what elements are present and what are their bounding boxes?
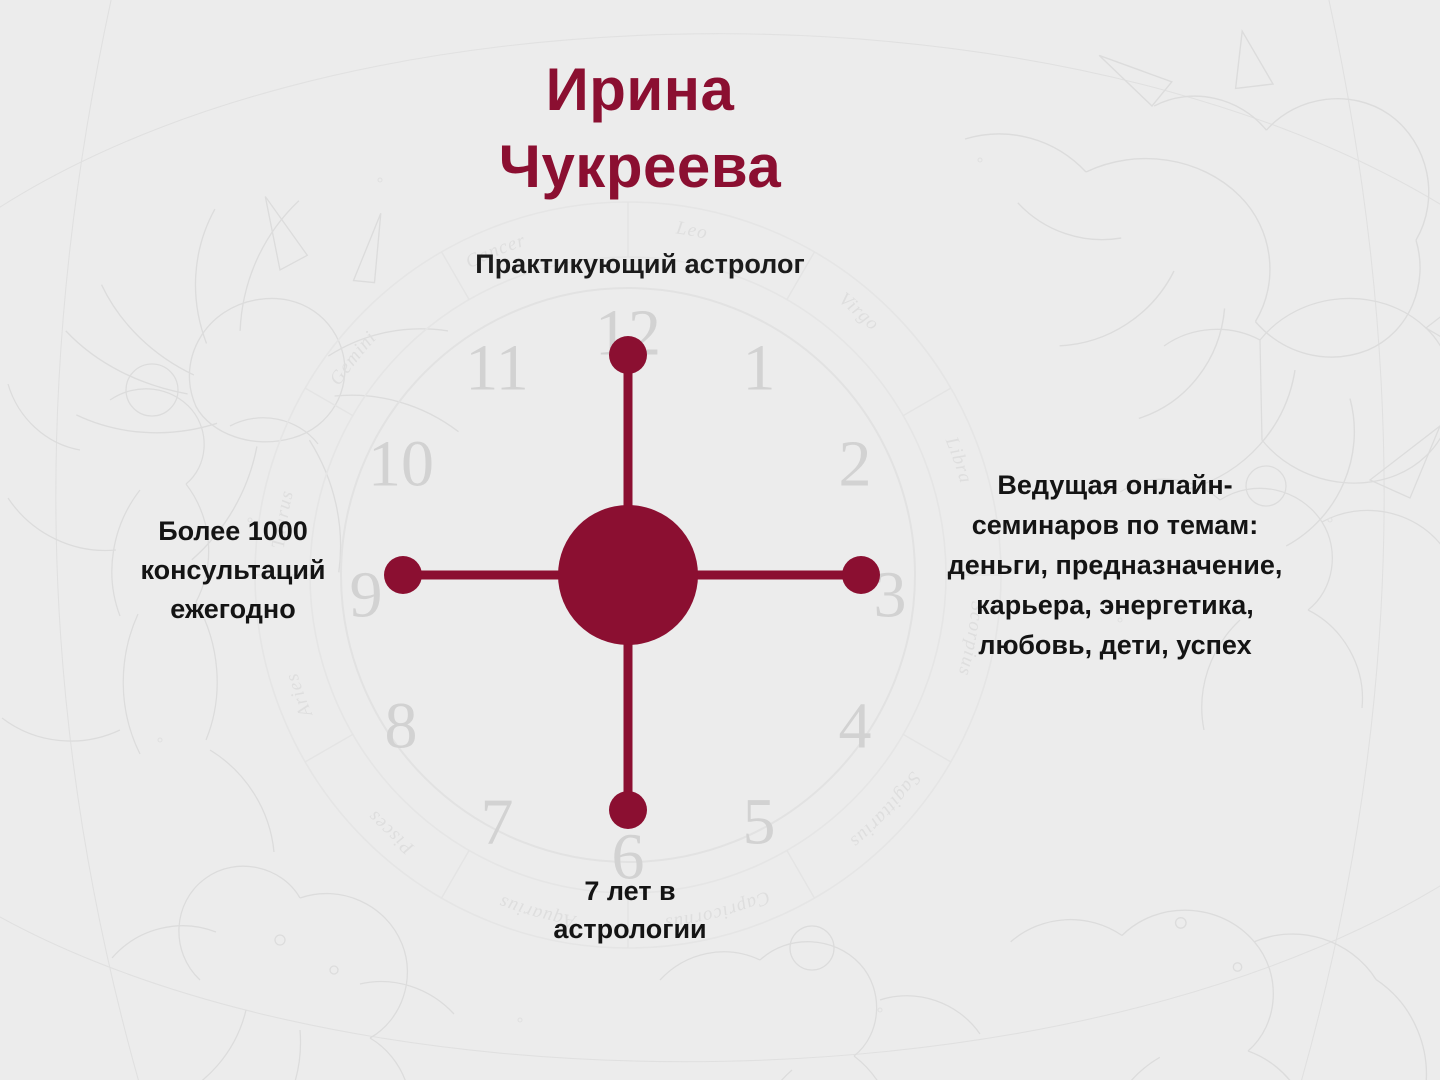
stat-bottom-line-2: астрологии [500,910,760,948]
stat-bottom-experience: 7 лет в астрологии [500,872,760,949]
stat-left-line-1: Более 1000 [88,512,378,551]
page-title: Ирина Чукреева [380,52,900,206]
stat-right-line-3: деньги, предназначение, [905,546,1325,586]
stat-right-line-1: Ведущая онлайн- [905,466,1325,506]
stat-left-consultations: Более 1000 консультаций ежегодно [88,512,378,629]
stat-right-line-2: семинаров по темам: [905,506,1325,546]
title-last-name: Чукреева [380,129,900,206]
title-first-name: Ирина [380,52,900,129]
stat-right-line-5: любовь, дети, успех [905,626,1325,666]
stat-left-line-2: консультаций [88,551,378,590]
subtitle-profession: Практикующий астролог [385,249,895,280]
stat-right-line-4: карьера, энергетика, [905,586,1325,626]
stat-bottom-line-1: 7 лет в [500,872,760,910]
stat-right-seminars: Ведущая онлайн- семинаров по темам: день… [905,466,1325,666]
stat-left-line-3: ежегодно [88,590,378,629]
